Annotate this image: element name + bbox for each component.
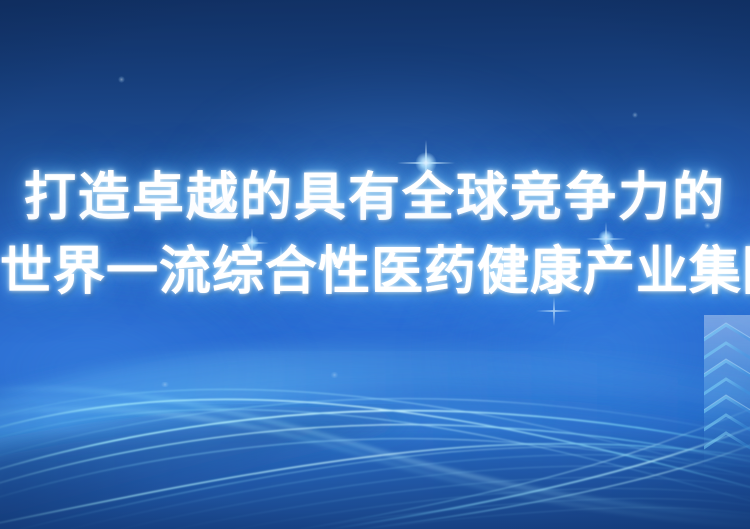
flowing-light-streaks <box>0 0 750 529</box>
sparkle-dot-2 <box>632 112 638 118</box>
sparkle-dot-3 <box>704 222 711 229</box>
background-glow-center <box>160 60 620 360</box>
headline-block: 打造卓越的具有全球竞争力的 世界一流综合性医药健康产业集团 <box>0 172 750 298</box>
sparkle-dot-4 <box>40 196 45 201</box>
background-glow-right <box>420 220 750 480</box>
headline-line-1-text: 打造卓越的具有全球竞争力的 <box>24 168 726 228</box>
sparkle-burst-1 <box>397 140 455 186</box>
background-glow-left <box>0 250 300 490</box>
sparkle-burst-4 <box>265 246 297 274</box>
sparkle-dot-1 <box>118 76 125 83</box>
sparkle-burst-5 <box>536 296 572 326</box>
sparkle-burst-2 <box>586 222 626 256</box>
sparkle-core-1 <box>415 152 437 174</box>
sparkle-core-2 <box>598 230 614 246</box>
headline-line-2-text: 世界一流综合性医药健康产业集团 <box>0 242 750 302</box>
sparkle-burst-3 <box>235 228 269 258</box>
headline-line-2: 世界一流综合性医药健康产业集团 <box>0 246 750 298</box>
sparkle-dot-6 <box>160 382 170 387</box>
chevron-stack-icon <box>704 315 750 467</box>
sparkle-core-3 <box>245 235 259 249</box>
background-top-shade <box>0 0 750 210</box>
slogan-banner: 打造卓越的具有全球竞争力的 世界一流综合性医药健康产业集团 <box>0 0 750 529</box>
headline-line-1: 打造卓越的具有全球竞争力的 <box>0 172 750 224</box>
sparkle-dot-5 <box>330 372 339 378</box>
wave-bands <box>0 0 750 529</box>
background-vignette <box>0 0 750 529</box>
